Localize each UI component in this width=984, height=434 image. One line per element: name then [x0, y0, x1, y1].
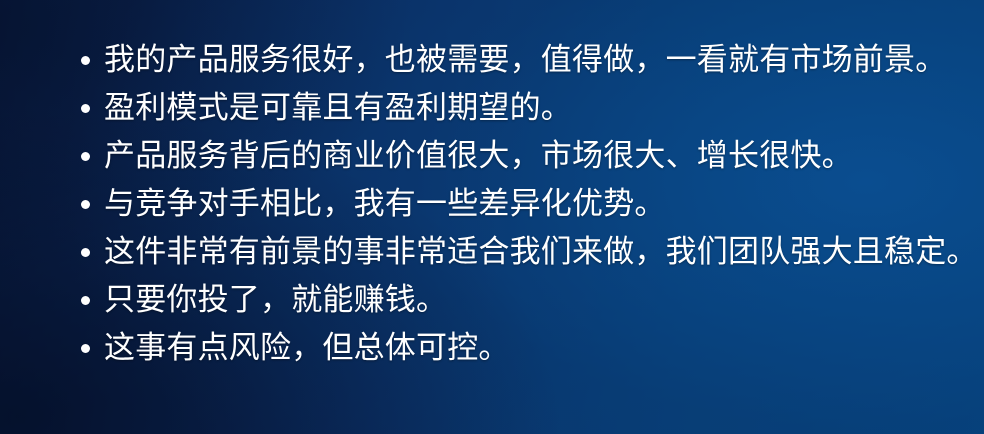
list-item: 只要你投了，就能赚钱。	[76, 276, 960, 324]
bullet-point-icon	[81, 296, 90, 305]
list-item: 我的产品服务很好，也被需要，值得做，一看就有市场前景。	[76, 36, 960, 84]
bullet-item-text: 我的产品服务很好，也被需要，值得做，一看就有市场前景。	[104, 36, 946, 84]
bullet-item-text: 与竞争对手相比，我有一些差异化优势。	[104, 180, 666, 228]
bullet-item-text: 这事有点风险，但总体可控。	[104, 324, 510, 372]
bullet-point-icon	[81, 248, 90, 257]
bullet-point-icon	[81, 200, 90, 209]
bullet-item-text: 盈利模式是可靠且有盈利期望的。	[104, 84, 572, 132]
bullet-point-icon	[81, 344, 90, 353]
list-item: 盈利模式是可靠且有盈利期望的。	[76, 84, 960, 132]
bullet-item-text: 这件非常有前景的事非常适合我们来做，我们团队强大且稳定。	[104, 228, 978, 276]
slide-canvas: 我的产品服务很好，也被需要，值得做，一看就有市场前景。 盈利模式是可靠且有盈利期…	[0, 0, 984, 434]
list-item: 与竞争对手相比，我有一些差异化优势。	[76, 180, 960, 228]
list-item: 这事有点风险，但总体可控。	[76, 324, 960, 372]
list-item: 产品服务背后的商业价值很大，市场很大、增长很快。	[76, 132, 960, 180]
bullet-point-icon	[81, 104, 90, 113]
bullet-list: 我的产品服务很好，也被需要，值得做，一看就有市场前景。 盈利模式是可靠且有盈利期…	[76, 36, 960, 372]
bullet-point-icon	[81, 56, 90, 65]
bullet-point-icon	[81, 152, 90, 161]
bullet-item-text: 只要你投了，就能赚钱。	[104, 276, 447, 324]
list-item: 这件非常有前景的事非常适合我们来做，我们团队强大且稳定。	[76, 228, 960, 276]
bullet-item-text: 产品服务背后的商业价值很大，市场很大、增长很快。	[104, 132, 853, 180]
